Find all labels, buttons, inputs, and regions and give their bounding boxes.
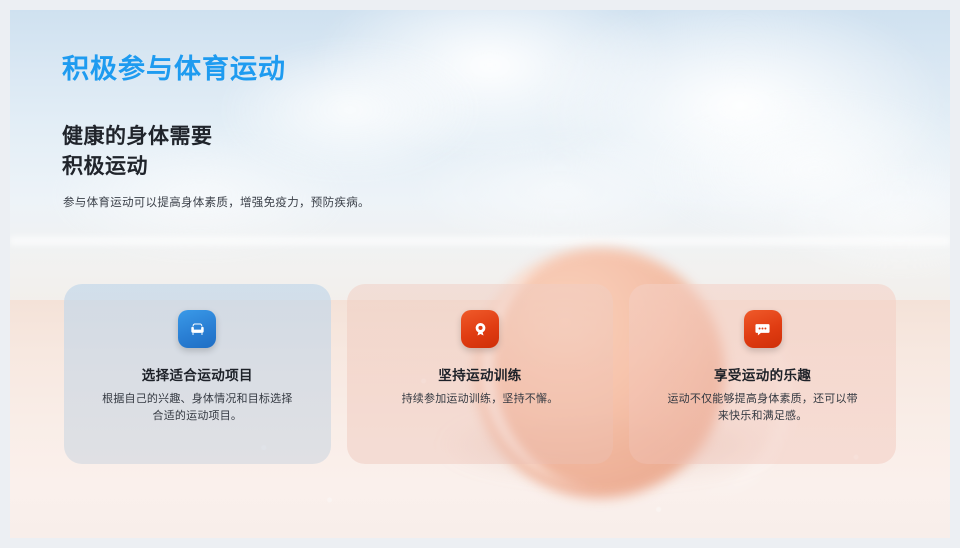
card-title: 享受运动的乐趣 xyxy=(714,364,811,384)
card-title: 选择适合运动项目 xyxy=(142,364,253,384)
slide-content: 积极参与体育运动 健康的身体需要 积极运动 参与体育运动可以提高身体素质，增强免… xyxy=(0,0,960,548)
card-description: 根据自己的兴趣、身体情况和目标选择合适的运动项目。 xyxy=(98,391,296,424)
card-description: 持续参加运动训练，坚持不懈。 xyxy=(381,391,579,408)
card-description: 运动不仅能够提高身体素质，还可以带来快乐和满足感。 xyxy=(664,391,862,424)
medal-icon xyxy=(461,310,499,348)
slide-root: 积极参与体育运动 健康的身体需要 积极运动 参与体育运动可以提高身体素质，增强免… xyxy=(0,0,960,548)
feature-card[interactable]: 选择适合运动项目 根据自己的兴趣、身体情况和目标选择合适的运动项目。 xyxy=(64,284,331,464)
page-title: 积极参与体育运动 xyxy=(62,47,286,86)
feature-card-row: 选择适合运动项目 根据自己的兴趣、身体情况和目标选择合适的运动项目。 坚持运动训… xyxy=(64,284,896,464)
card-title: 坚持运动训练 xyxy=(438,364,521,384)
feature-card[interactable]: 享受运动的乐趣 运动不仅能够提高身体素质，还可以带来快乐和满足感。 xyxy=(629,284,896,464)
feature-card[interactable]: 坚持运动训练 持续参加运动训练，坚持不懈。 xyxy=(347,284,614,464)
lede-paragraph: 参与体育运动可以提高身体素质，增强免疫力，预防疾病。 xyxy=(63,194,370,210)
headline: 健康的身体需要 积极运动 xyxy=(62,122,213,182)
comment-dots-icon xyxy=(744,310,782,348)
sofa-icon xyxy=(178,310,216,348)
